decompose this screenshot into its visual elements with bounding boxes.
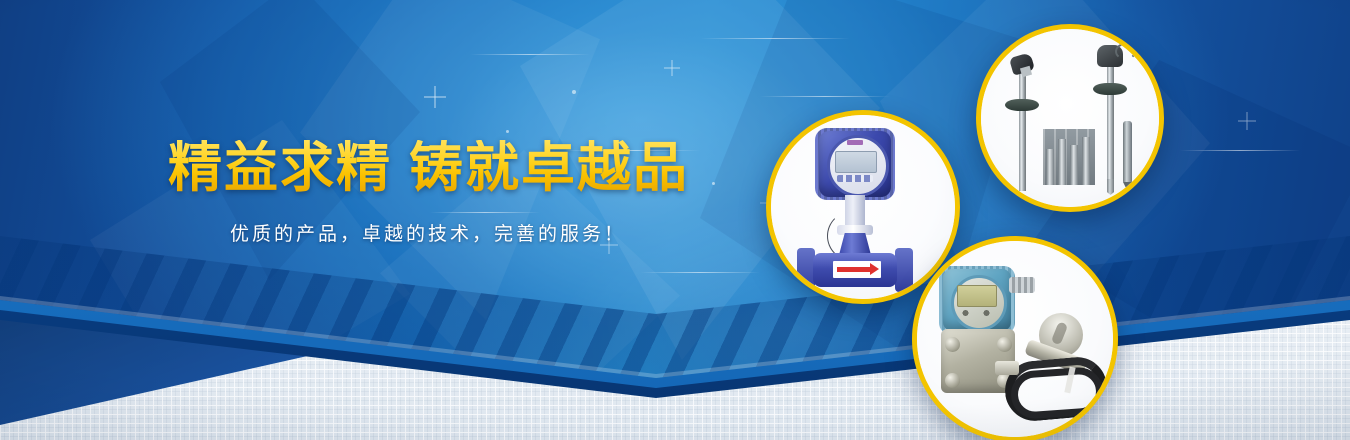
head-cap-b xyxy=(1115,43,1136,60)
promo-banner: 精益求精 铸就卓越品质 优质的产品，卓越的技术，完善的服务！ xyxy=(0,0,1350,440)
light-streak xyxy=(640,272,760,273)
lcd-display xyxy=(957,285,997,307)
small-probe xyxy=(1058,139,1066,185)
flow-arrow-icon xyxy=(837,267,871,272)
manifold-bolt xyxy=(945,337,960,352)
headline-block: 精益求精 铸就卓越品质 优质的产品，卓越的技术，完善的服务！ xyxy=(168,140,688,246)
page-title: 精益求精 铸就卓越品质 xyxy=(168,140,688,197)
manifold-bolt xyxy=(997,337,1012,352)
conduit-port xyxy=(1009,277,1035,293)
temperature-sensors-photo xyxy=(981,29,1159,207)
light-streak xyxy=(1180,150,1300,151)
sparkle-icon xyxy=(424,86,446,108)
probe-tip-b xyxy=(1107,179,1114,195)
capillary-cable xyxy=(1009,366,1104,420)
flange-right xyxy=(895,248,913,292)
pressure-transmitter-photo xyxy=(917,241,1113,437)
probe-stem-a xyxy=(1019,65,1026,191)
small-probe xyxy=(1082,137,1090,185)
product-circle-pressure-transmitter[interactable] xyxy=(912,236,1118,440)
probe-assortment-strip xyxy=(1043,129,1095,185)
brand-logo-icon xyxy=(847,140,863,145)
product-circle-temperature-sensors[interactable] xyxy=(976,24,1164,212)
page-subtitle: 优质的产品，卓越的技术，完善的服务！ xyxy=(168,219,688,246)
process-flange-b xyxy=(1093,83,1127,95)
small-probe xyxy=(1070,145,1078,185)
sparkle-icon xyxy=(1238,112,1256,130)
adjust-screws xyxy=(961,309,991,317)
probe-stem-b xyxy=(1107,59,1114,191)
cable-gland xyxy=(995,361,1019,375)
light-streak xyxy=(470,54,590,55)
manifold-bolt xyxy=(945,373,960,388)
head-nut-a xyxy=(1020,66,1032,77)
accent-dot xyxy=(506,130,509,133)
sensor-neck xyxy=(845,195,865,229)
small-probe xyxy=(1046,149,1054,185)
sparkle-icon xyxy=(664,60,680,76)
process-flange-a xyxy=(1005,99,1039,111)
lcd-display xyxy=(835,151,877,173)
light-streak xyxy=(700,38,850,39)
light-streak xyxy=(760,96,890,97)
single-probe-tip xyxy=(1123,121,1132,183)
accent-dot xyxy=(572,90,576,94)
keypad-buttons xyxy=(837,175,873,182)
